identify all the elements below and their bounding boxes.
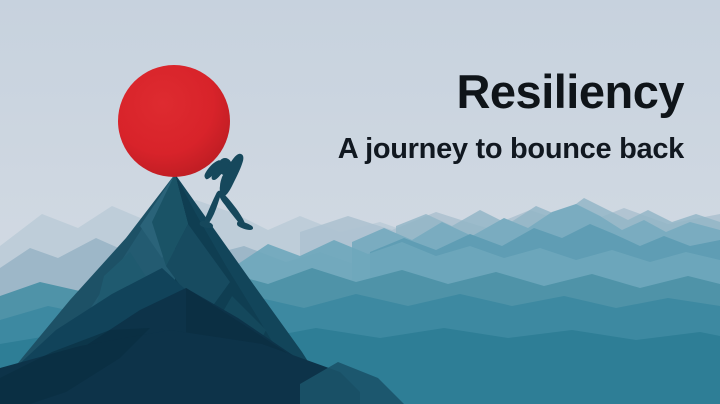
slide-canvas: Resiliency A journey to bounce back — [0, 0, 720, 404]
red-boulder — [118, 65, 230, 177]
scenic-illustration — [0, 0, 720, 404]
